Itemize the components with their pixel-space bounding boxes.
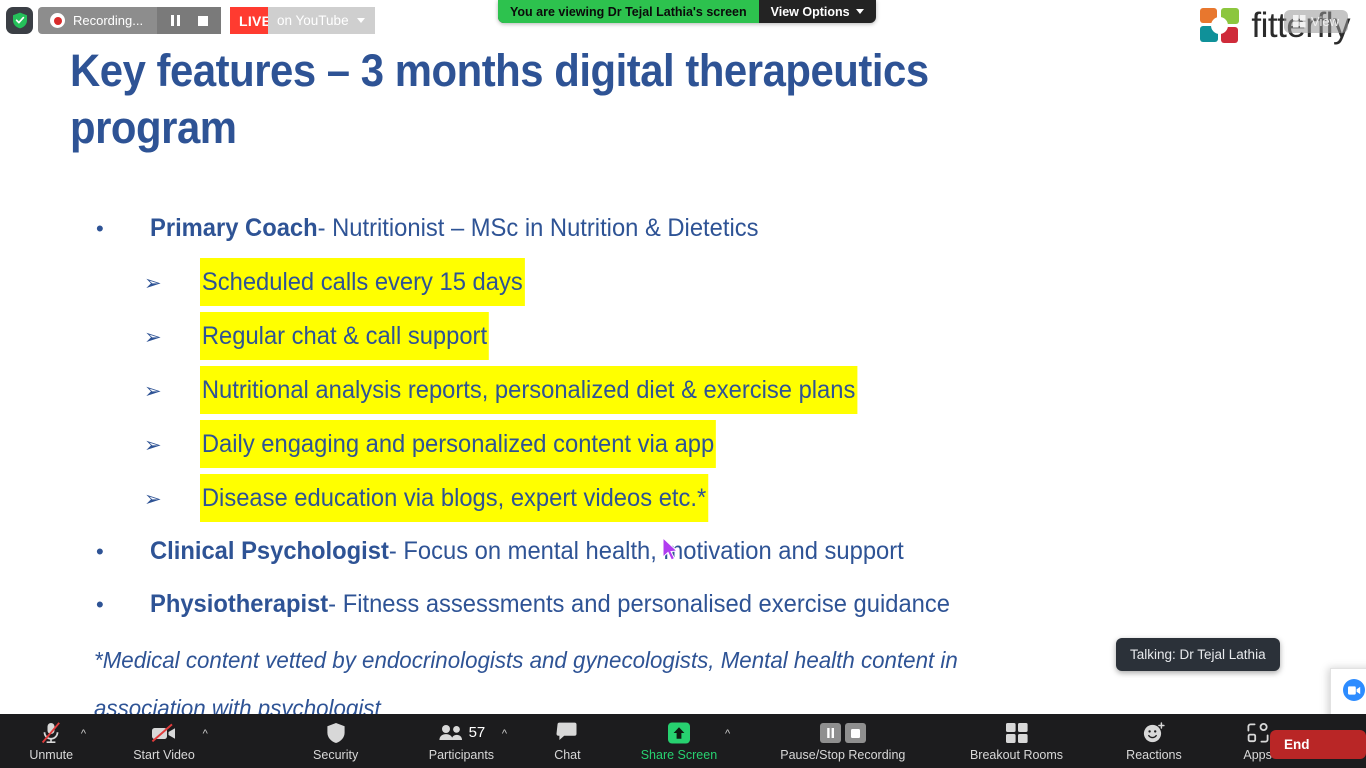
unmute-button[interactable]: Unmute ^ <box>25 714 77 768</box>
chat-label: Chat <box>554 748 580 762</box>
video-options-chevron-up-icon[interactable]: ^ <box>203 728 208 740</box>
sub-bullet-disease-education: ➢ Disease education via blogs, expert vi… <box>96 474 1276 524</box>
share-options-chevron-up-icon[interactable]: ^ <box>725 728 730 740</box>
reactions-icon <box>1142 721 1166 745</box>
chevron-down-icon <box>357 18 365 23</box>
apps-icon <box>1246 721 1270 745</box>
notification-header: Z <box>1343 679 1366 701</box>
bullet-marker-dot: • <box>96 206 150 252</box>
stop-recording-button[interactable] <box>189 7 217 34</box>
audio-options-chevron-up-icon[interactable]: ^ <box>81 728 86 740</box>
bullet-bold-label: Physiotherapist <box>150 590 328 618</box>
security-shield-badge[interactable] <box>6 7 33 34</box>
start-video-button[interactable]: Start Video ^ <box>129 714 199 768</box>
shield-check-icon <box>12 12 28 29</box>
share-screen-button[interactable]: Share Screen ^ <box>637 714 721 768</box>
unmute-label: Unmute <box>29 748 73 762</box>
participants-options-chevron-up-icon[interactable]: ^ <box>502 728 507 740</box>
zoom-shared-screen-window: Key features – 3 months digital therapeu… <box>0 0 1366 768</box>
bullet-bold-label: Primary Coach <box>150 214 318 242</box>
arrow-bullet-icon: ➢ <box>144 476 200 524</box>
camera-off-icon <box>150 721 178 745</box>
bullet-rest-text: - Nutritionist – MSc in Nutrition & Diet… <box>318 214 759 242</box>
pause-stop-recording-label: Pause/Stop Recording <box>780 748 905 762</box>
view-options-label: View Options <box>771 5 850 19</box>
zoom-camera-icon <box>1343 679 1365 701</box>
sub-bullet-text: Daily engaging and personalized content … <box>200 420 716 468</box>
bullet-marker-dot: • <box>96 529 150 575</box>
chevron-down-icon <box>856 9 864 14</box>
chat-button[interactable]: Chat <box>550 714 584 768</box>
participants-label: Participants <box>429 748 494 762</box>
slide-body: • Primary Coach- Nutritionist – MSc in N… <box>96 205 1276 634</box>
stop-icon <box>198 16 208 26</box>
breakout-rooms-button[interactable]: Breakout Rooms <box>966 714 1067 768</box>
security-button[interactable]: Security <box>309 714 362 768</box>
reactions-button[interactable]: Reactions <box>1122 714 1186 768</box>
participants-button[interactable]: 57 Participants ^ <box>425 714 498 768</box>
sub-bullet-text: Regular chat & call support <box>200 312 489 360</box>
bullet-marker-dot: • <box>96 582 150 628</box>
bullet-clinical-psychologist: • Clinical Psychologist- Focus on mental… <box>96 528 1276 575</box>
bullet-rest-text: - Focus on mental health, motivation and… <box>389 537 904 565</box>
pause-stop-icon <box>819 721 867 745</box>
participants-count: 57 <box>469 724 486 741</box>
view-options-button[interactable]: View Options <box>759 0 876 23</box>
bullet-bold-label: Clinical Psychologist <box>150 537 389 565</box>
shield-icon <box>326 721 346 745</box>
pause-recording-button[interactable] <box>161 7 189 34</box>
bullet-text: Physiotherapist- Fitness assessments and… <box>150 581 950 627</box>
live-source-label: on YouTube <box>277 13 349 28</box>
screen-share-banner: You are viewing Dr Tejal Lathia's screen… <box>498 0 876 23</box>
meeting-toolbar: Unmute ^ Start Video ^ <box>0 714 1366 768</box>
share-screen-icon <box>663 721 695 745</box>
recording-status-label: Recording... <box>73 13 157 28</box>
sub-bullet-text: Disease education via blogs, expert vide… <box>200 474 708 522</box>
page-title: Key features – 3 months digital therapeu… <box>70 42 1009 156</box>
breakout-rooms-label: Breakout Rooms <box>970 748 1063 762</box>
reactions-label: Reactions <box>1126 748 1182 762</box>
pause-stop-recording-button[interactable]: Pause/Stop Recording <box>776 714 909 768</box>
security-label: Security <box>313 748 358 762</box>
breakout-rooms-icon <box>1005 721 1029 745</box>
live-source-dropdown[interactable]: on YouTube <box>268 7 375 34</box>
view-button[interactable]: View <box>1284 10 1348 33</box>
viewing-screen-label: You are viewing Dr Tejal Lathia's screen <box>498 0 759 23</box>
sub-bullet-daily-content: ➢ Daily engaging and personalized conten… <box>96 420 1276 470</box>
bullet-text: Clinical Psychologist- Focus on mental h… <box>150 528 904 574</box>
sub-bullet-text: Scheduled calls every 15 days <box>200 258 525 306</box>
sub-bullet-nutritional-analysis: ➢ Nutritional analysis reports, personal… <box>96 366 1276 416</box>
sub-bullet-chat-call-support: ➢ Regular chat & call support <box>96 312 1276 362</box>
pause-icon <box>171 15 180 26</box>
recording-indicator: Recording... <box>38 7 221 34</box>
sub-bullet-scheduled-calls: ➢ Scheduled calls every 15 days <box>96 258 1276 308</box>
bullet-primary-coach: • Primary Coach- Nutritionist – MSc in N… <box>96 205 1276 252</box>
microphone-muted-icon <box>40 721 62 745</box>
arrow-bullet-icon: ➢ <box>144 314 200 362</box>
talking-indicator-tooltip: Talking: Dr Tejal Lathia <box>1116 638 1280 671</box>
bullet-text: Primary Coach- Nutritionist – MSc in Nut… <box>150 205 758 251</box>
arrow-bullet-icon: ➢ <box>144 422 200 470</box>
footnote-line-1: *Medical content vetted by endocrinologi… <box>94 636 1234 684</box>
start-video-label: Start Video <box>133 748 195 762</box>
sub-bullet-text: Nutritional analysis reports, personaliz… <box>200 366 857 414</box>
chat-bubble-icon <box>556 721 578 745</box>
arrow-bullet-icon: ➢ <box>144 260 200 308</box>
end-meeting-button[interactable]: End <box>1270 730 1366 759</box>
arrow-bullet-icon: ➢ <box>144 368 200 416</box>
record-dot-icon <box>50 13 65 28</box>
share-screen-label: Share Screen <box>641 748 717 762</box>
grid-view-icon <box>1293 15 1306 28</box>
recording-controls <box>157 7 221 34</box>
apps-label: Apps <box>1243 748 1272 762</box>
participants-icon: 57 <box>438 721 486 745</box>
bullet-rest-text: - Fitness assessments and personalised e… <box>328 590 950 618</box>
fitterfly-pinwheel-icon <box>1199 6 1241 46</box>
bullet-physiotherapist: • Physiotherapist- Fitness assessments a… <box>96 581 1276 628</box>
view-chip-label: View <box>1311 14 1339 29</box>
